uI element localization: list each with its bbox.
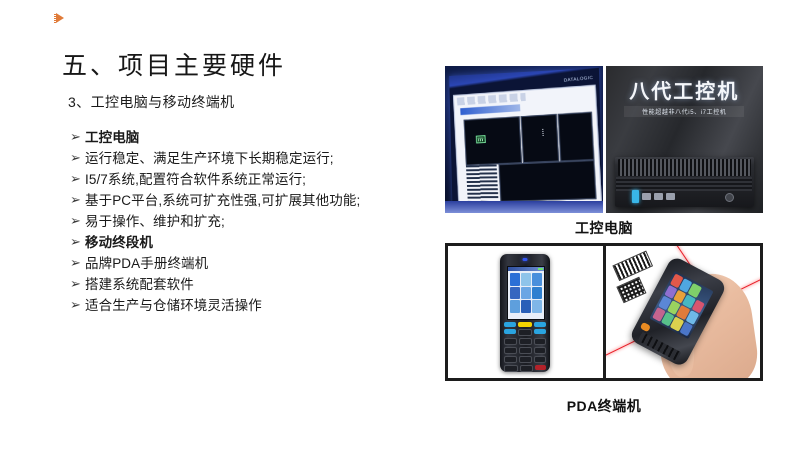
- scan-scene: [606, 246, 761, 378]
- software-titlebar: [460, 104, 521, 115]
- app-icon: [521, 300, 531, 313]
- chassis-ribs: [616, 177, 752, 191]
- keypad-row: [504, 365, 546, 372]
- industrial-pc-box-photo: 八代工控机 性能超越非八代i5、i7工控机: [606, 66, 764, 213]
- list-item-label: 基于PC平台,系统可扩充性强,可扩展其他功能;: [85, 191, 360, 210]
- number-key: [504, 347, 517, 354]
- list-item: ➢ 移动终段机: [70, 233, 430, 252]
- pda-keypad: [504, 322, 546, 374]
- industrial-pc-caption: 工控电脑: [445, 218, 763, 238]
- list-item-label: I5/7系统,配置符合软件系统正常运行;: [85, 170, 306, 189]
- industrial-pc-subhead: 性能超越非八代i5、i7工控机: [624, 106, 744, 117]
- app-icon: [510, 273, 520, 286]
- monitor-photo-bg: DATALOGIC: [445, 66, 603, 213]
- industrial-pc-photo-bg: 八代工控机 性能超越非八代i5、i7工控机: [606, 66, 764, 213]
- list-item: ➢ 适合生产与仓储环境灵活操作: [70, 296, 430, 315]
- app-icon: [521, 287, 531, 300]
- pda-screen: [507, 266, 545, 320]
- keypad-row: [504, 347, 546, 354]
- enter-key: [518, 322, 532, 327]
- number-key: [519, 356, 532, 363]
- monitor-stand: [445, 201, 603, 213]
- pda-photo-group: [445, 243, 763, 381]
- software-toolbar: [456, 93, 525, 106]
- vision-panel: [498, 159, 597, 201]
- list-item: ➢ 工控电脑: [70, 128, 430, 147]
- pda-app-grid: [510, 273, 542, 313]
- scan-button-icon: [640, 322, 651, 332]
- app-icon: [521, 273, 531, 286]
- arrow-bullet-icon: ➢: [70, 233, 85, 252]
- io-ports: [632, 190, 687, 203]
- number-key: [504, 338, 517, 345]
- pda-caption: PDA终端机: [445, 396, 763, 416]
- usb-port-icon: [666, 193, 675, 200]
- monitor-bezel: DATALOGIC: [449, 68, 602, 207]
- barcode-readout-icon: [475, 134, 485, 142]
- list-item: ➢ 搭建系统配套软件: [70, 275, 430, 294]
- number-key: [519, 338, 532, 345]
- list-item: ➢ 易于操作、维护和扩充;: [70, 212, 430, 231]
- barcode-strip-icon: [542, 129, 544, 136]
- app-icon: [532, 300, 542, 313]
- arrow-bullet-icon: ➢: [70, 170, 85, 189]
- display-port-icon: [632, 190, 639, 203]
- app-icon: [510, 300, 520, 313]
- usb-port-icon: [654, 193, 663, 200]
- arrow-bullet-icon: ➢: [70, 212, 85, 231]
- number-key: [520, 365, 533, 372]
- number-key: [534, 347, 547, 354]
- pda-in-hand-barcode-scan-photo: [606, 246, 761, 378]
- keypad-row: [504, 329, 546, 336]
- list-item: ➢ 品牌PDA手册终端机: [70, 254, 430, 273]
- pda-statusbar: [508, 267, 544, 271]
- list-item: ➢ 运行稳定、满足生产环境下长期稳定运行;: [70, 149, 430, 168]
- number-key: [534, 338, 547, 345]
- number-key: [504, 365, 517, 372]
- bullet-list: ➢ 工控电脑 ➢ 运行稳定、满足生产环境下长期稳定运行; ➢ I5/7系统,配置…: [70, 128, 430, 317]
- vision-panel: [463, 115, 522, 164]
- number-key: [519, 347, 532, 354]
- keypad-row: [504, 338, 546, 345]
- list-item: ➢ I5/7系统,配置符合软件系统正常运行;: [70, 170, 430, 189]
- keypad-row: [504, 356, 546, 363]
- heatsink-fins-icon: [618, 159, 751, 176]
- power-key: [535, 365, 546, 370]
- app-icon: [532, 287, 542, 300]
- list-item-label: 移动终段机: [85, 233, 153, 252]
- orange-play-triangle-icon: [54, 13, 66, 25]
- slide-canvas: 五、项目主要硬件 3、工控电脑与移动终端机 ➢ 工控电脑 ➢ 运行稳定、满足生产…: [0, 0, 800, 450]
- arrow-bullet-icon: ➢: [70, 191, 85, 210]
- arrow-bullet-icon: ➢: [70, 275, 85, 294]
- function-key: [504, 329, 516, 334]
- industrial-pc-headline: 八代工控机: [613, 75, 755, 104]
- list-item-label: 搭建系统配套软件: [85, 275, 194, 294]
- arrow-bullet-icon: ➢: [70, 149, 85, 168]
- list-item-label: 品牌PDA手册终端机: [85, 254, 208, 273]
- pda-photo-frame: [445, 243, 763, 381]
- software-results-list: [465, 164, 498, 200]
- function-key: [534, 322, 546, 327]
- app-icon: [510, 287, 520, 300]
- list-item-label: 适合生产与仓储环境灵活操作: [85, 296, 262, 315]
- marker-triangle-icon: [56, 13, 64, 23]
- arrow-bullet-icon: ➢: [70, 254, 85, 273]
- list-item: ➢ 基于PC平台,系统可扩充性强,可扩展其他功能;: [70, 191, 430, 210]
- list-item-label: 易于操作、维护和扩充;: [85, 212, 225, 231]
- list-item-label: 工控电脑: [85, 128, 139, 147]
- industrial-pc-photo-group: DATALOGIC: [445, 66, 763, 213]
- app-icon: [532, 273, 542, 286]
- datalogic-vision-monitor-photo: DATALOGIC: [445, 66, 603, 213]
- number-key: [504, 356, 517, 363]
- vision-software-window: [453, 84, 602, 205]
- page-subtitle: 3、工控电脑与移动终端机: [68, 92, 235, 112]
- pda-device: [500, 254, 550, 372]
- vision-panel: [520, 113, 559, 162]
- vision-panel: [558, 111, 595, 161]
- arrow-bullet-icon: ➢: [70, 296, 85, 315]
- function-key: [504, 322, 516, 327]
- pda-handheld-front-photo: [448, 246, 606, 378]
- datalogic-brand-label: DATALOGIC: [564, 74, 594, 82]
- nav-key: [518, 329, 532, 336]
- arrow-bullet-icon: ➢: [70, 128, 85, 147]
- usb-port-icon: [642, 193, 651, 200]
- keypad-row: [504, 322, 546, 327]
- status-led-icon: [523, 258, 528, 261]
- power-button-icon: [725, 193, 734, 202]
- list-item-label: 运行稳定、满足生产环境下长期稳定运行;: [85, 149, 334, 168]
- industrial-pc-chassis: [615, 157, 754, 207]
- page-title: 五、项目主要硬件: [62, 46, 286, 82]
- number-key: [534, 356, 547, 363]
- function-key: [534, 329, 546, 334]
